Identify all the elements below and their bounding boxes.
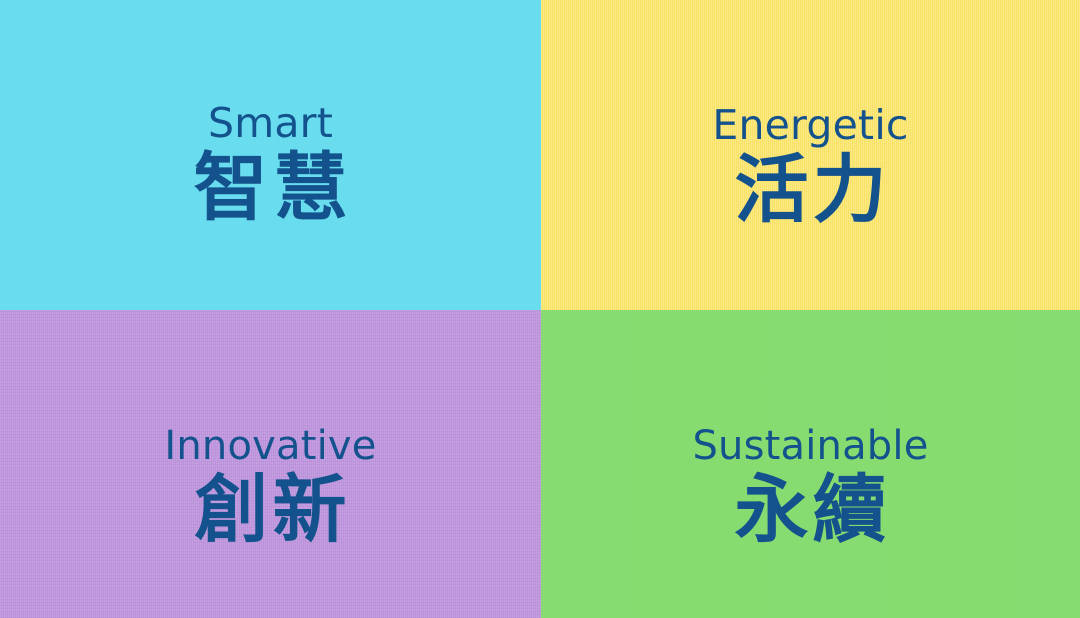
quadrant-energetic-label-en: Energetic <box>712 105 908 146</box>
quadrant-innovative-label-zh: 創新 <box>190 473 350 547</box>
quadrant-sustainable[interactable]: Sustainable 永續 <box>541 310 1080 618</box>
brand-values-grid: Smart 智慧 Energetic 活力 Innovative 創新 Sust… <box>0 0 1080 618</box>
quadrant-energetic[interactable]: Energetic 活力 <box>541 0 1080 310</box>
quadrant-sustainable-content: Sustainable 永續 <box>692 426 928 547</box>
quadrant-innovative-label-en: Innovative <box>164 426 376 466</box>
quadrant-smart[interactable]: Smart 智慧 <box>0 0 541 310</box>
quadrant-sustainable-label-zh: 永續 <box>730 473 890 547</box>
quadrant-smart-label-zh: 智慧 <box>188 151 354 225</box>
quadrant-innovative[interactable]: Innovative 創新 <box>0 310 541 618</box>
quadrant-energetic-content: Energetic 活力 <box>712 105 908 227</box>
quadrant-smart-label-en: Smart <box>208 103 333 144</box>
brand-values-canvas: Smart 智慧 Energetic 活力 Innovative 創新 Sust… <box>0 0 1080 618</box>
quadrant-sustainable-label-en: Sustainable <box>692 426 928 466</box>
quadrant-smart-content: Smart 智慧 <box>188 103 354 225</box>
quadrant-innovative-content: Innovative 創新 <box>164 426 376 547</box>
quadrant-energetic-label-zh: 活力 <box>731 153 891 227</box>
